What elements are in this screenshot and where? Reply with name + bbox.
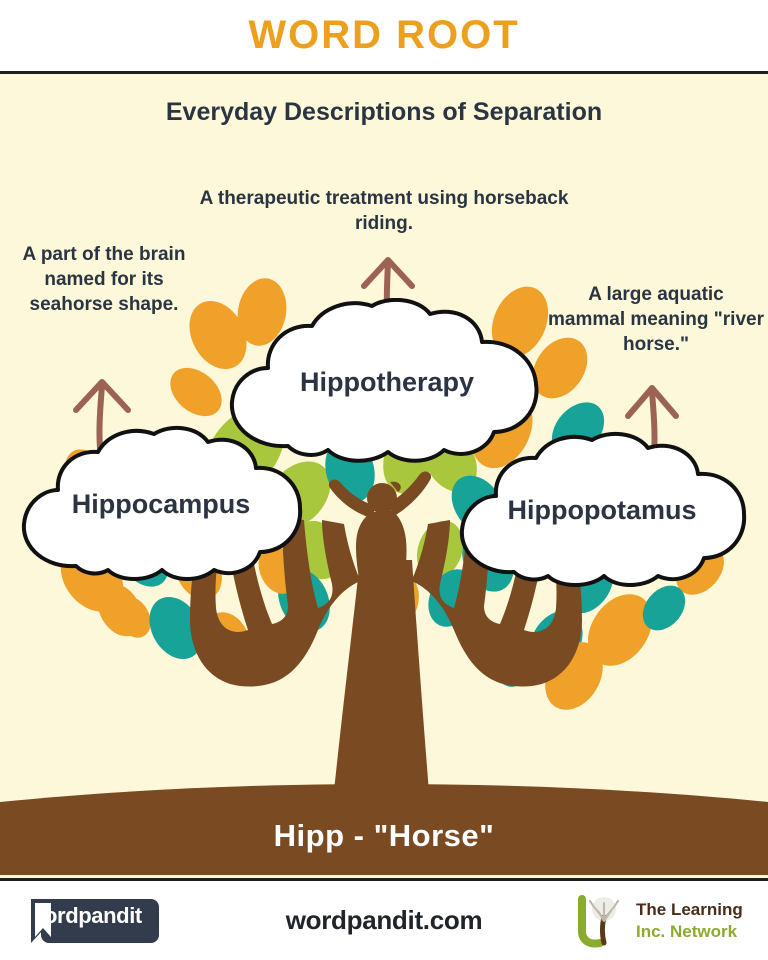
callout-hippocampus: A part of the brain named for its seahor… bbox=[6, 242, 202, 317]
partner-logo[interactable]: The Learning Inc. Network bbox=[574, 895, 754, 949]
partner-name-line2: Inc. Network bbox=[636, 922, 737, 942]
bubble-hippopotamus: Hippopotamus bbox=[452, 430, 752, 590]
callout-hippopotamus: A large aquatic mammal meaning "river ho… bbox=[548, 282, 764, 357]
learning-network-tree-icon bbox=[574, 895, 632, 949]
bubble-label-hippocampus: Hippocampus bbox=[16, 489, 306, 520]
bubble-label-hippotherapy: Hippotherapy bbox=[222, 367, 552, 398]
root-word-label: Hipp - "Horse" bbox=[0, 818, 768, 854]
header-bar: WORD ROOT bbox=[0, 0, 768, 74]
bubble-label-hippopotamus: Hippopotamus bbox=[452, 495, 752, 526]
page-title: WORD ROOT bbox=[248, 13, 519, 58]
subtitle: Everyday Descriptions of Separation bbox=[0, 98, 768, 127]
partner-name-line1: The Learning bbox=[636, 900, 743, 920]
footer-bar: ordpandit wordpandit.com The Learning In… bbox=[0, 878, 768, 960]
infographic-page: WORD ROOT Everyday Descriptions of Separ… bbox=[0, 0, 768, 960]
callout-hippotherapy: A therapeutic treatment using horseback … bbox=[184, 186, 584, 236]
bubble-hippocampus: Hippocampus bbox=[16, 424, 306, 584]
